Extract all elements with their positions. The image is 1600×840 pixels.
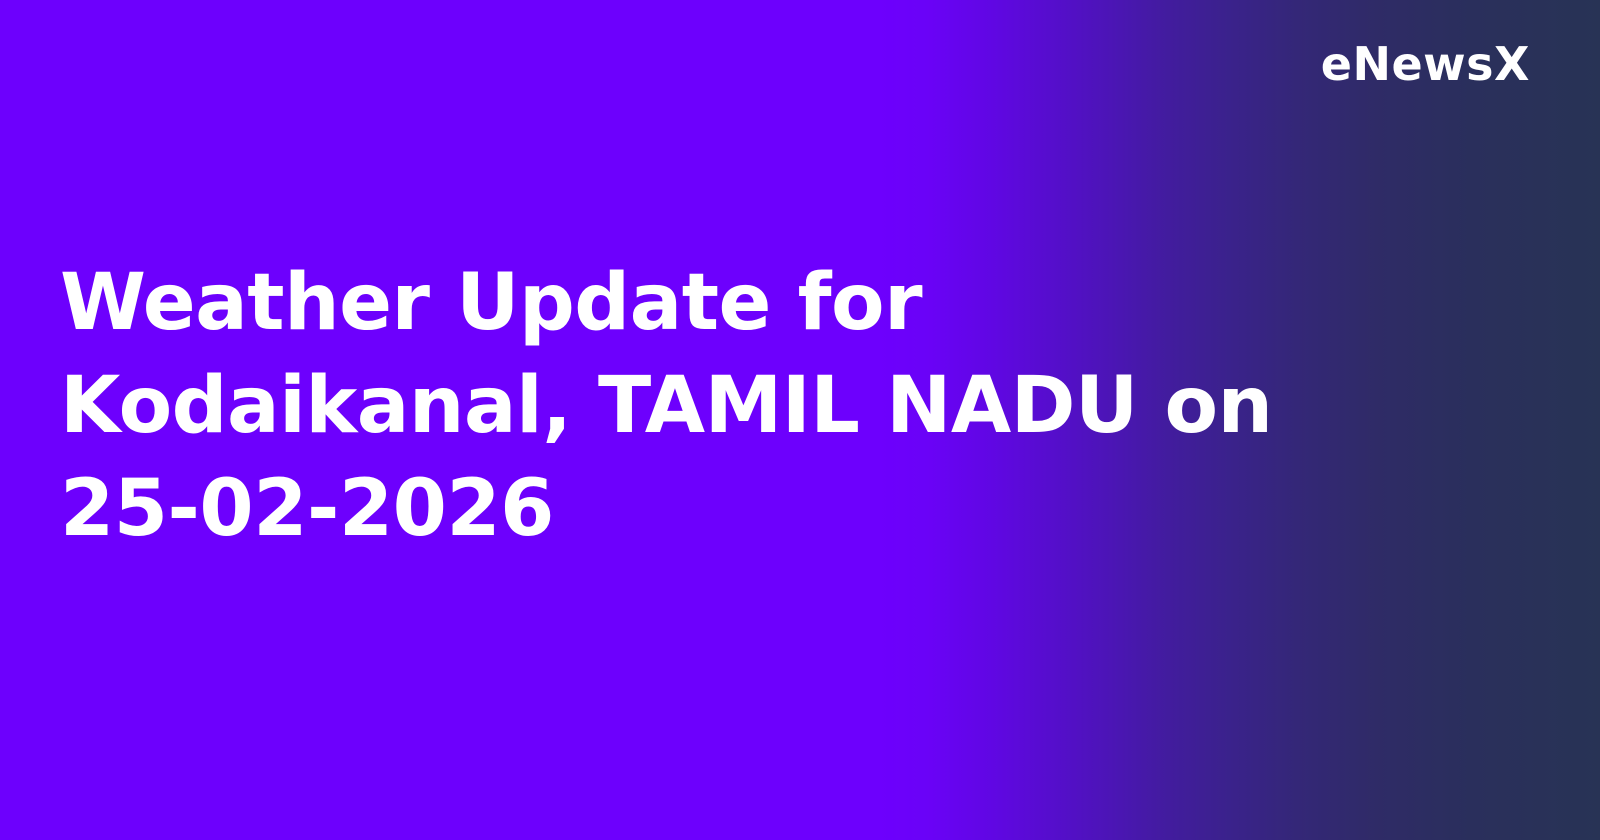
- headline-block: Weather Update for Kodaikanal, TAMIL NAD…: [60, 252, 1420, 561]
- brand-logo[interactable]: eNewsX: [1321, 32, 1530, 96]
- news-banner: eNewsX Weather Update for Kodaikanal, TA…: [0, 0, 1600, 840]
- brand-logo-text: eNewsX: [1321, 41, 1530, 87]
- page-title: Weather Update for Kodaikanal, TAMIL NAD…: [60, 252, 1420, 561]
